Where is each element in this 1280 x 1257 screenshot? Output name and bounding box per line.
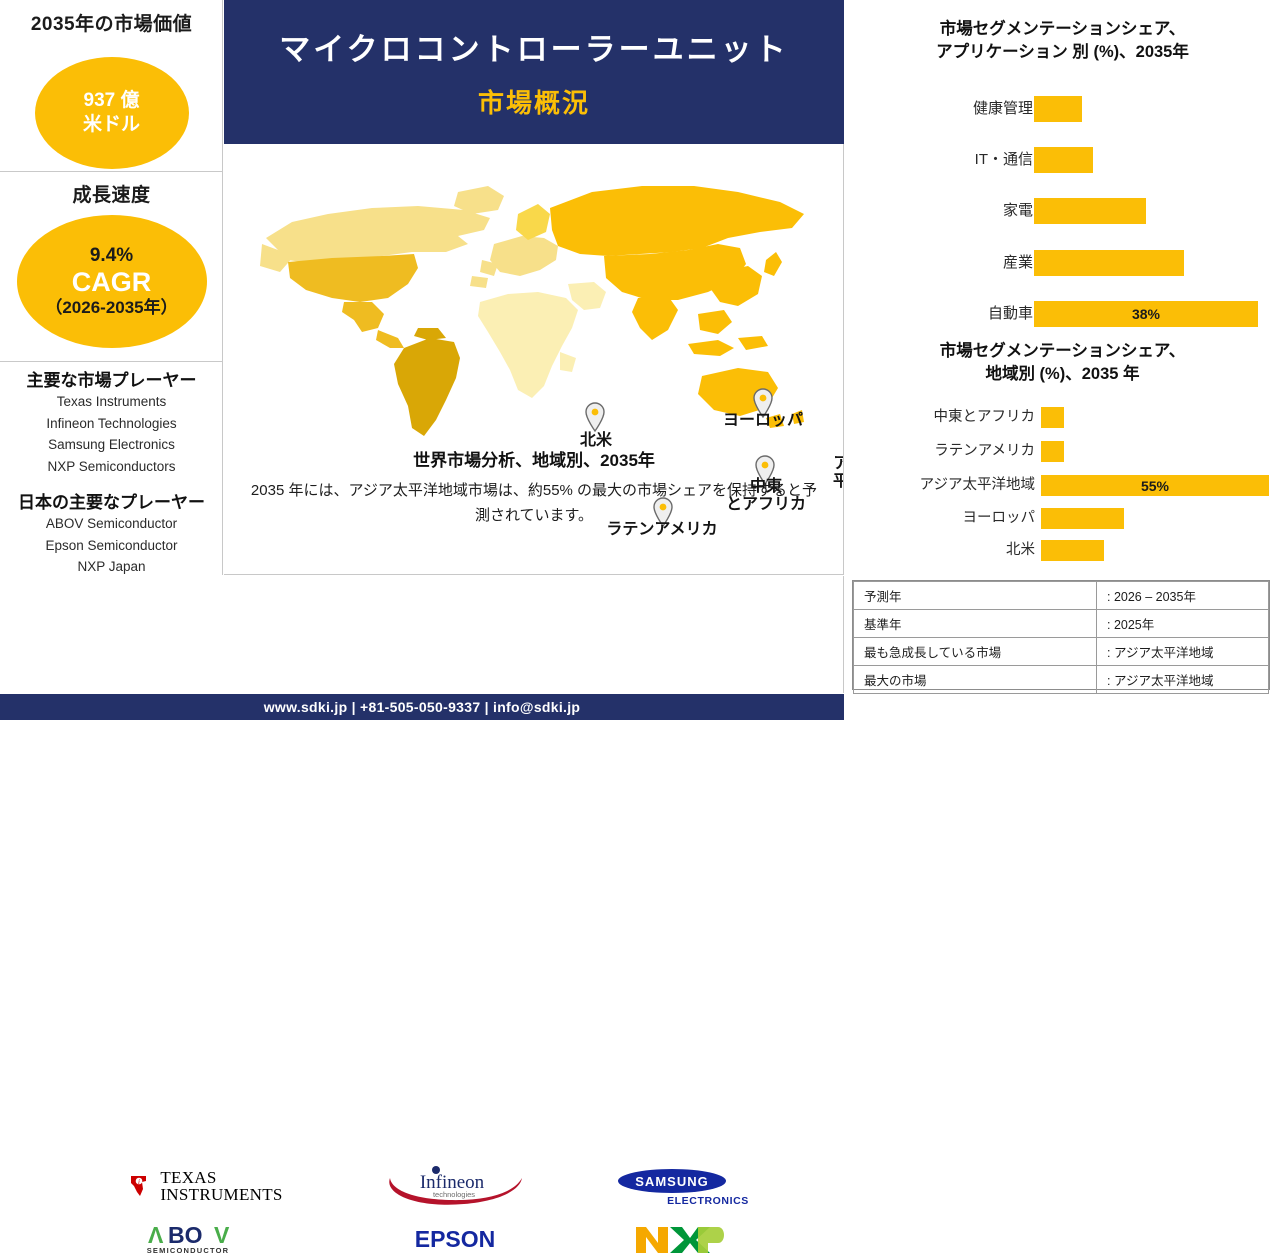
map-label-europe: ヨーロッパ <box>703 412 823 430</box>
bar-label: 中東とアフリカ <box>853 407 1035 428</box>
table-row[interactable]: 38% <box>1034 301 1258 327</box>
world-map: 北米 ヨーロッパ アジア太 平洋地域 中東 とアフリカ ラテンアメリカ <box>224 152 844 462</box>
application-chart-title-line2: アプリケーション 別 (%)、2035年 <box>855 41 1270 64</box>
footer-contact: www.sdki.jp | +81-505-050-9337 | info@sd… <box>0 694 844 720</box>
bar-label: 家電 <box>855 198 1033 224</box>
left-sidebar: 2035年の市場価値 937 億 米ドル 成長速度 9.4% CAGR （202… <box>0 0 223 575</box>
list-item: NXP Semiconductors <box>0 456 223 478</box>
svg-text:ELECTRONICS: ELECTRONICS <box>667 1195 749 1207</box>
bar-label: アジア太平洋地域 <box>853 475 1035 496</box>
logo-samsung: SAMSUNG ELECTRONICS <box>612 1168 752 1210</box>
abov-icon: Λ BO V SEMICONDUCTOR <box>140 1221 270 1257</box>
jp-players-heading: 日本の主要なプレーヤー <box>0 488 223 513</box>
table-row[interactable] <box>1034 147 1093 173</box>
growth-rate-block: 成長速度 9.4% CAGR （2026-2035年） <box>0 172 223 362</box>
table-row[interactable] <box>1034 96 1082 122</box>
svg-text:technologies: technologies <box>433 1190 475 1199</box>
region-chart-title-line1: 市場セグメンテーションシェア、 <box>855 340 1270 363</box>
ti-line1: TEXAS <box>160 1169 282 1186</box>
region-chart-title: 市場セグメンテーションシェア、 地域別 (%)、2035 年 <box>855 340 1270 386</box>
bar-label: IT・通信 <box>855 147 1033 173</box>
logo-epson: EPSON <box>400 1224 510 1254</box>
table-row[interactable] <box>1034 198 1146 224</box>
bar-label: 健康管理 <box>855 96 1033 122</box>
table-row: 最大の市場 : アジア太平洋地域 <box>854 666 1269 694</box>
bar-value: 55% <box>1141 478 1169 494</box>
table-cell-key: 最も急成長している市場 <box>854 638 1097 666</box>
ti-line2: INSTRUMENTS <box>160 1186 282 1203</box>
infineon-icon: Infineon technologies <box>380 1164 530 1210</box>
list-item: Epson Semiconductor <box>0 535 223 557</box>
market-value-bubble: 937 億 米ドル <box>35 57 189 169</box>
map-pin-north-america[interactable] <box>584 402 606 432</box>
world-map-panel: 北米 ヨーロッパ アジア太 平洋地域 中東 とアフリカ ラテンアメリカ 世界市場… <box>224 144 844 575</box>
growth-rate-heading: 成長速度 <box>0 180 223 207</box>
map-description: 2035 年には、アジア太平洋地域市場は、約55% の最大の市場シェアを保持する… <box>246 478 822 528</box>
epson-icon: EPSON <box>400 1224 510 1254</box>
table-row[interactable] <box>1041 508 1124 529</box>
bar-value: 38% <box>1132 306 1160 322</box>
logo-nxp <box>632 1221 728 1257</box>
table-cell-key: 予測年 <box>854 582 1097 610</box>
market-info-table: 予測年 : 2026 – 2035年 基準年 : 2025年 最も急成長している… <box>852 580 1270 690</box>
table-row: 基準年 : 2025年 <box>854 610 1269 638</box>
company-logos-strip: i TEXAS INSTRUMENTS Infineon technologie… <box>0 576 844 693</box>
table-row[interactable] <box>1041 407 1064 428</box>
svg-text:BO: BO <box>168 1222 203 1248</box>
bar-label: 北米 <box>853 540 1035 561</box>
page-title: マイクロコントローラーユニット <box>279 24 788 69</box>
list-item: Texas Instruments <box>0 391 223 413</box>
table-row[interactable] <box>1041 540 1104 561</box>
table-row: 最も急成長している市場 : アジア太平洋地域 <box>854 638 1269 666</box>
logo-abov: Λ BO V SEMICONDUCTOR <box>140 1221 270 1257</box>
list-item: ABOV Semiconductor <box>0 513 223 535</box>
table-row[interactable] <box>1034 250 1184 276</box>
table-row: 予測年 : 2026 – 2035年 <box>854 582 1269 610</box>
key-players-heading: 主要な市場プレーヤー <box>0 366 223 391</box>
market-value-block: 2035年の市場価値 937 億 米ドル <box>0 0 223 172</box>
bar-label: ラテンアメリカ <box>853 441 1035 462</box>
table-cell-key: 基準年 <box>854 610 1097 638</box>
table-cell-key: 最大の市場 <box>854 666 1097 694</box>
nxp-icon <box>632 1221 728 1257</box>
region-chart-title-line2: 地域別 (%)、2035 年 <box>855 363 1270 386</box>
market-value-line2: 米ドル <box>83 113 140 137</box>
svg-text:V: V <box>214 1222 230 1248</box>
market-value-line1: 937 億 <box>84 89 140 113</box>
svg-text:Λ: Λ <box>148 1222 164 1248</box>
page-subtitle: 市場概況 <box>478 83 590 120</box>
list-item: NXP Japan <box>0 556 223 578</box>
table-cell-value: : アジア太平洋地域 <box>1097 666 1269 694</box>
cagr-value: 9.4% <box>90 245 133 267</box>
world-map-svg <box>232 152 836 452</box>
table-row[interactable] <box>1041 441 1064 462</box>
growth-rate-bubble: 9.4% CAGR （2026-2035年） <box>17 215 207 348</box>
table-cell-value: : アジア太平洋地域 <box>1097 638 1269 666</box>
list-item: Samsung Electronics <box>0 434 223 456</box>
logo-infineon: Infineon technologies <box>380 1164 530 1210</box>
table-cell-value: : 2026 – 2035年 <box>1097 582 1269 610</box>
bar-label: ヨーロッパ <box>853 508 1035 529</box>
footer-text: www.sdki.jp | +81-505-050-9337 | info@sd… <box>264 699 581 715</box>
application-chart-title: 市場セグメンテーションシェア、 アプリケーション 別 (%)、2035年 <box>855 18 1270 64</box>
bar-label: 産業 <box>855 250 1033 276</box>
texas-instruments-icon: i <box>127 1173 153 1199</box>
table-row[interactable]: 55% <box>1041 475 1269 496</box>
list-item: Infineon Technologies <box>0 413 223 435</box>
page-header: マイクロコントローラーユニット 市場概況 <box>224 0 844 144</box>
svg-text:EPSON: EPSON <box>415 1226 496 1252</box>
logo-texas-instruments: i TEXAS INSTRUMENTS <box>120 1166 290 1206</box>
market-value-heading: 2035年の市場価値 <box>0 9 223 36</box>
cagr-period: （2026-2035年） <box>45 298 177 318</box>
cagr-label: CAGR <box>72 267 152 298</box>
bar-label: 自動車 <box>855 301 1033 327</box>
svg-text:i: i <box>138 1178 140 1186</box>
table-cell-value: : 2025年 <box>1097 610 1269 638</box>
key-players-block: 主要な市場プレーヤー Texas Instruments Infineon Te… <box>0 362 223 575</box>
samsung-icon: SAMSUNG ELECTRONICS <box>612 1168 752 1210</box>
svg-text:SAMSUNG: SAMSUNG <box>635 1174 708 1189</box>
application-chart-title-line1: 市場セグメンテーションシェア、 <box>855 18 1270 41</box>
texas-instruments-wordmark: TEXAS INSTRUMENTS <box>160 1169 282 1203</box>
svg-text:SEMICONDUCTOR: SEMICONDUCTOR <box>147 1246 230 1255</box>
map-caption: 世界市場分析、地域別、2035年 <box>224 446 844 471</box>
